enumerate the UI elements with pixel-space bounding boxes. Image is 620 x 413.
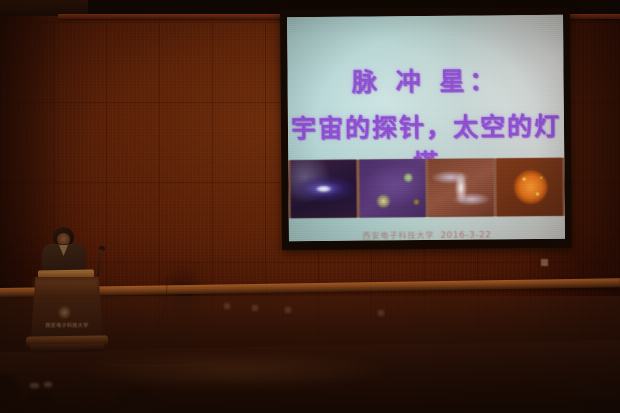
wall-mark [378,310,384,316]
podium-and-speaker: 西安电子科技大学 [18,222,138,362]
wall-mark [285,307,291,313]
wall-outlet-plate [541,259,548,266]
podium-highlight [34,279,98,297]
audience-silhouette [26,392,56,413]
microphone-stem [97,249,102,276]
wall-mark [224,303,230,309]
audience-glint [44,382,52,387]
slide-vignette [287,15,565,241]
university-emblem-icon [58,306,71,319]
projection-screen: 脉 冲 星： 宇宙的探针，太空的灯塔 西安电子科技大学2016-3-22 [280,7,572,251]
podium-plinth [30,343,104,352]
podium-plaque-text: 西安电子科技大学 [36,322,98,329]
wall-mark [252,305,258,311]
lecture-hall-photo: 脉 冲 星： 宇宙的探针，太空的灯塔 西安电子科技大学2016-3-22 [0,0,620,413]
projected-slide: 脉 冲 星： 宇宙的探针，太空的灯塔 西安电子科技大学2016-3-22 [287,15,565,241]
audience-silhouette [118,388,152,413]
audience-glint [30,383,39,388]
